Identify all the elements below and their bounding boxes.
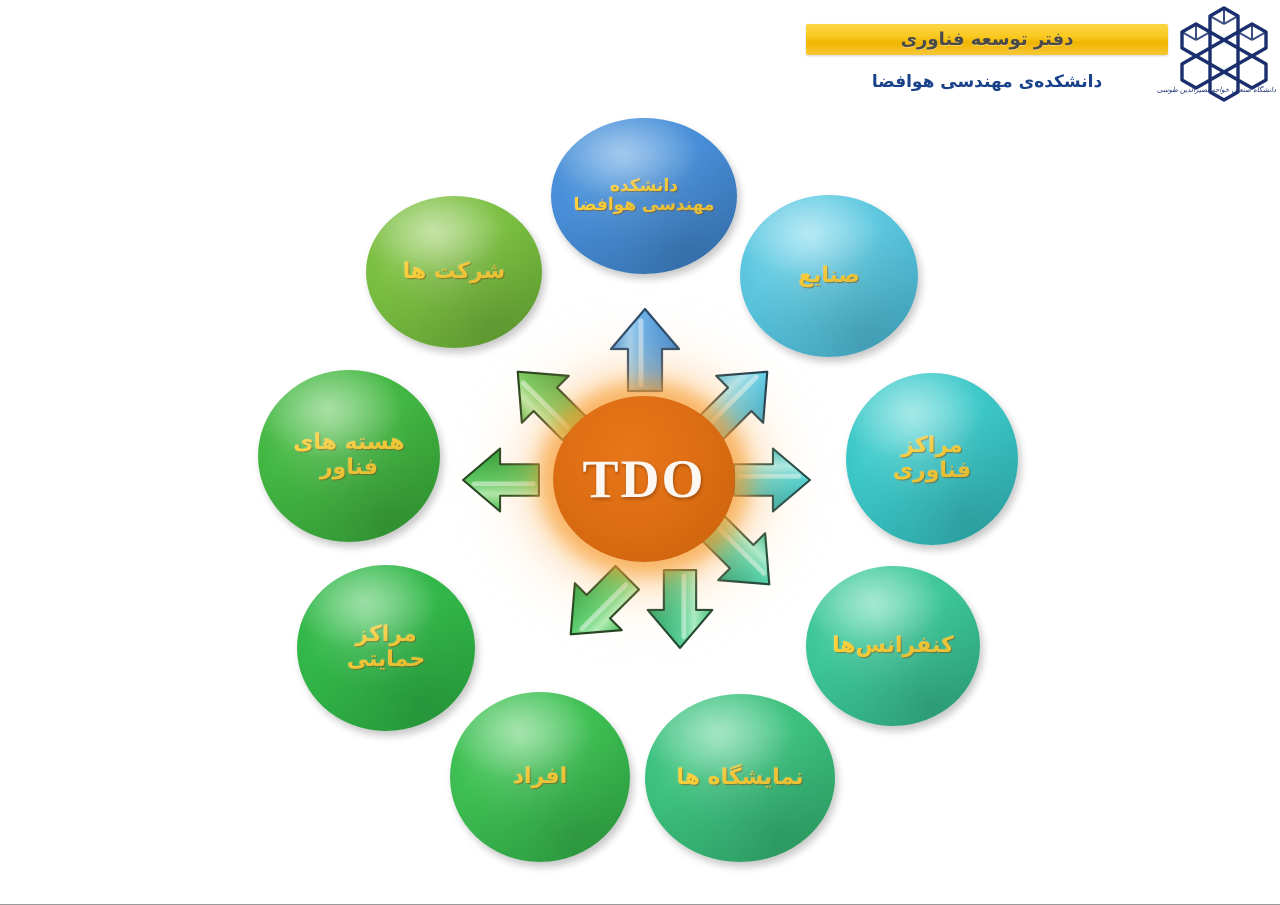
arrow-to-support-centers: [459, 443, 543, 517]
node-people-label: افراد: [503, 765, 577, 790]
node-technology-centers-label: مراکز فناوری: [883, 434, 981, 483]
banner-title-text: دفتر توسعه فناوری: [901, 31, 1074, 49]
node-technology-cores-label: هسته های فناور: [283, 431, 414, 480]
node-technology-centers-label-line1: مراکز: [901, 433, 962, 458]
node-industries[interactable]: صنایع: [740, 195, 918, 357]
node-support-centers-label: مراکز حمایتی: [337, 623, 435, 672]
node-support-centers-label-line1: مراکز: [355, 622, 416, 647]
node-technology-cores-label-line1: هسته های: [293, 430, 404, 455]
node-support-centers-label-line2: حمایتی: [347, 647, 425, 672]
slide-canvas: دفتر توسعه فناوری دانشکده‌ی مهندسی هوافض…: [0, 0, 1280, 905]
arrow-to-exhibitions: [642, 566, 718, 652]
arrow-to-technology-centers: [730, 443, 814, 517]
node-technology-centers[interactable]: مراکز فناوری: [846, 373, 1018, 545]
node-companies-label: شرکت ها: [393, 260, 516, 285]
node-faculty[interactable]: دانشکده مهندسی هوافضا: [551, 118, 737, 274]
title-banner: دفتر توسعه فناوری: [806, 24, 1168, 55]
radial-diagram: TDO دانشکده مهندسی هوافضا صنایع مراکز فن…: [0, 100, 1280, 890]
logo-caption: دانشگاه صنعتی خواجه نصیرالدین طوسی: [1172, 86, 1276, 94]
node-conferences-label: کنفرانس‌ها: [822, 634, 964, 659]
node-companies[interactable]: شرکت ها: [366, 196, 542, 348]
node-faculty-label: دانشکده مهندسی هوافضا: [564, 177, 725, 215]
node-industries-label: صنایع: [788, 264, 870, 289]
node-support-centers[interactable]: مراکز حمایتی: [297, 565, 475, 731]
node-technology-centers-label-line2: فناوری: [893, 458, 971, 483]
node-conferences[interactable]: کنفرانس‌ها: [806, 566, 980, 726]
arrow-to-people: [540, 547, 657, 664]
center-node-label: TDO: [582, 448, 705, 510]
center-node-tdo[interactable]: TDO: [553, 396, 735, 562]
node-faculty-label-line2: مهندسی هوافضا: [574, 195, 715, 215]
node-faculty-label-line1: دانشکده: [610, 176, 678, 196]
node-exhibitions-label: نمایشگاه ها: [666, 766, 813, 791]
slide-header: دفتر توسعه فناوری دانشکده‌ی مهندسی هوافض…: [0, 0, 1280, 110]
node-people[interactable]: افراد: [450, 692, 630, 862]
node-technology-cores[interactable]: هسته های فناور: [258, 370, 440, 542]
node-technology-cores-label-line2: فناور: [320, 455, 378, 480]
node-exhibitions[interactable]: نمایشگاه ها: [645, 694, 835, 862]
arrow-to-faculty: [605, 305, 685, 395]
header-subtitle: دانشکده‌ی مهندسی هوافضا: [806, 72, 1168, 92]
